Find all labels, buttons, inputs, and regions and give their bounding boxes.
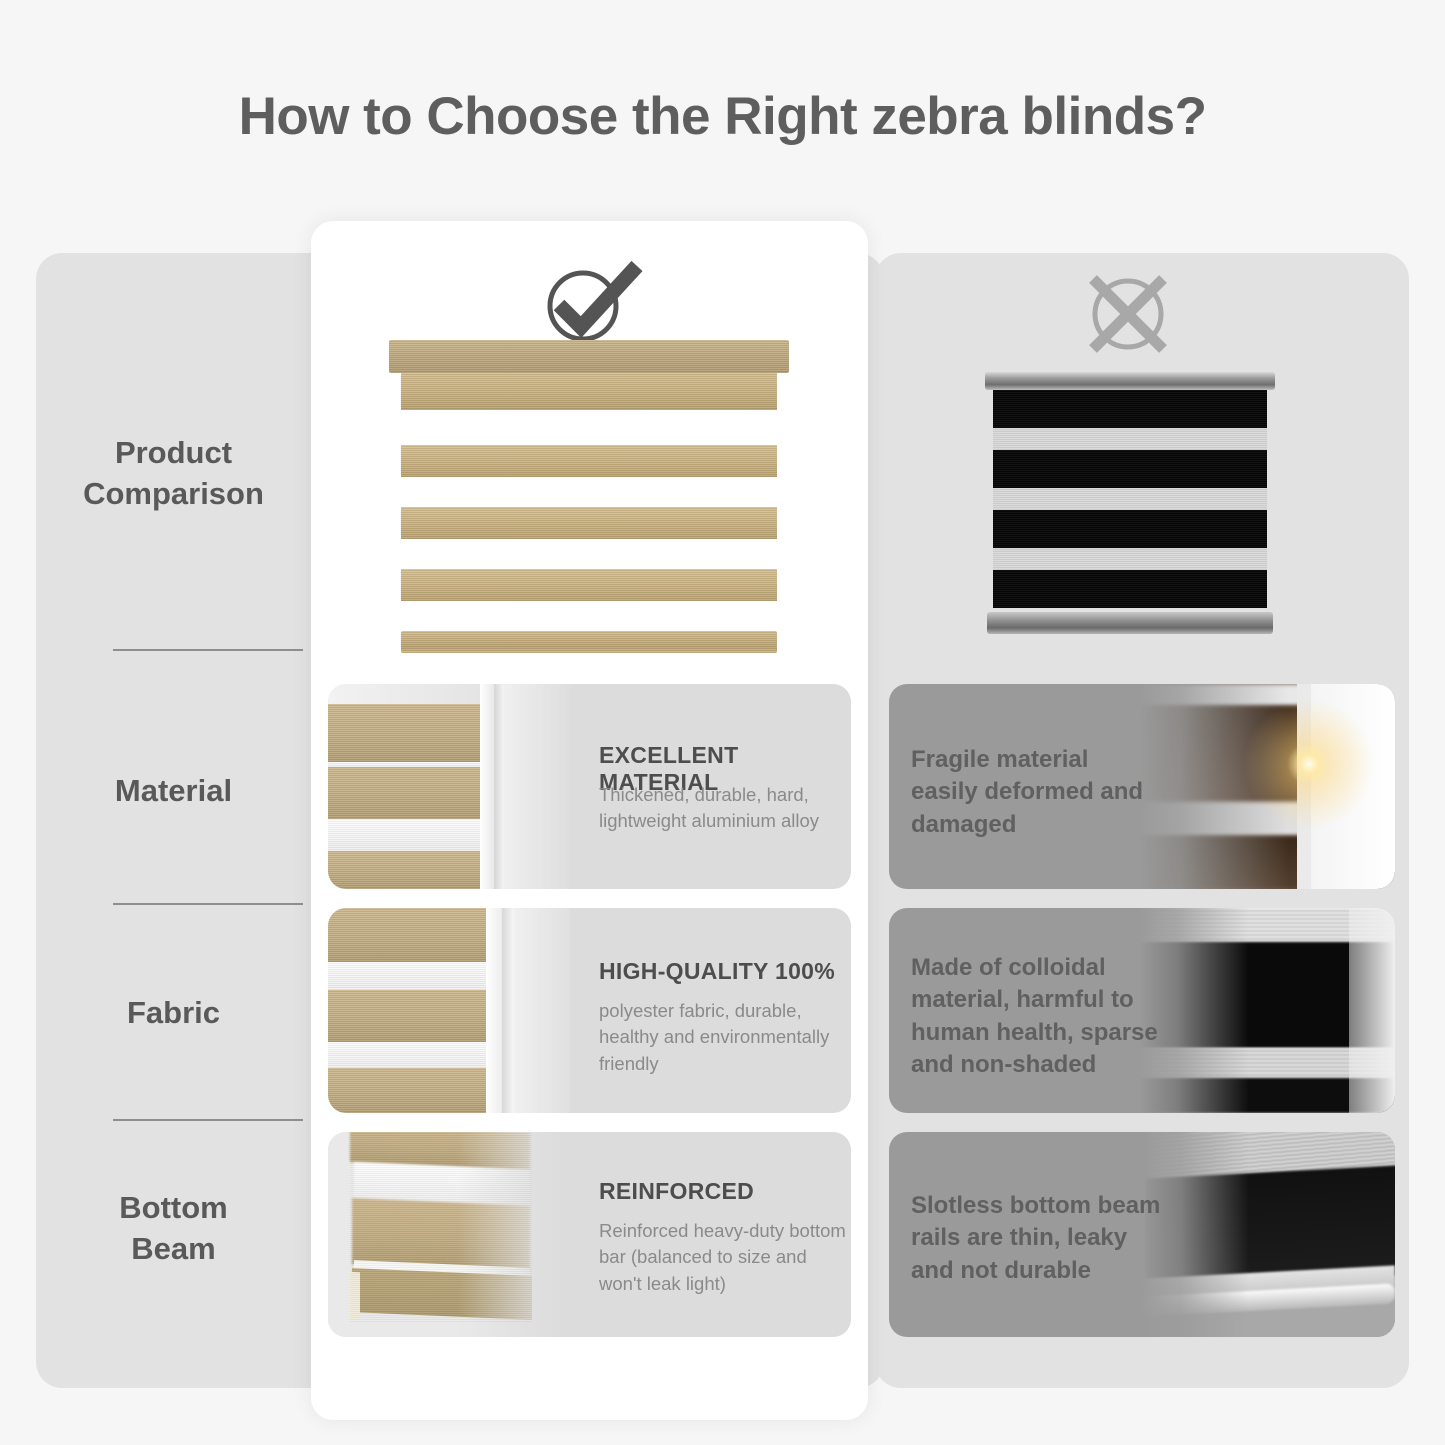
negative-photo-fabric	[1139, 908, 1395, 1113]
bad-bottom-bar	[987, 612, 1273, 634]
row-label-bottom-beam: Bottom Beam	[36, 1188, 311, 1270]
bottom-bar	[401, 631, 777, 653]
row-label-line1: Bottom	[36, 1188, 311, 1229]
negative-card-fabric: Made of colloidal material, harmful to h…	[889, 908, 1395, 1113]
feature-text-fabric: HIGH-QUALITY 100% polyester fabric, dura…	[571, 908, 851, 1113]
bad-fabric-bands	[993, 390, 1267, 608]
row-label-fabric: Fabric	[36, 993, 311, 1034]
row-label-column: Product Comparison Material Fabric Botto…	[36, 253, 311, 1388]
feature-heading: REINFORCED	[599, 1178, 754, 1205]
feature-body: Thickened, durable, hard, lightweight al…	[599, 782, 851, 835]
row-label-line2: Beam	[36, 1229, 311, 1270]
negative-photo-bottom-beam	[1139, 1132, 1395, 1337]
negative-card-bottom-beam: Slotless bottom beam rails are thin, lea…	[889, 1132, 1395, 1337]
bad-product-hero-image	[985, 372, 1275, 642]
divider-3	[113, 1119, 303, 1121]
feature-card-material: EXCELLENT MATERIAL Thickened, durable, h…	[328, 684, 851, 889]
feature-photo-bottom-beam	[328, 1132, 570, 1337]
cross-circle-icon	[1073, 265, 1183, 363]
good-product-hero-image	[389, 340, 789, 665]
row-label-line1: Material	[36, 771, 311, 812]
feature-card-bottom-beam: REINFORCED Reinforced heavy-duty bottom …	[328, 1132, 851, 1337]
check-circle-icon	[533, 250, 653, 350]
bad-headrail	[985, 372, 1275, 390]
fabric-band	[401, 507, 777, 539]
fabric-band	[401, 569, 777, 601]
row-label-line1: Product	[36, 433, 311, 474]
row-label-line2: Comparison	[36, 474, 311, 515]
divider-2	[113, 903, 303, 905]
fabric-band	[401, 445, 777, 477]
headrail-lip	[401, 373, 777, 410]
headrail	[389, 340, 789, 373]
page-title: How to Choose the Right zebra blinds?	[0, 86, 1445, 147]
negative-text: Slotless bottom beam rails are thin, lea…	[911, 1190, 1161, 1287]
divider-1	[113, 649, 303, 651]
feature-text-material: EXCELLENT MATERIAL Thickened, durable, h…	[571, 684, 851, 889]
feature-text-bottom-beam: REINFORCED Reinforced heavy-duty bottom …	[571, 1132, 851, 1337]
negative-card-material: Fragile material easily deformed and dam…	[889, 684, 1395, 889]
negative-photo-material	[1139, 684, 1395, 889]
negative-text: Fragile material easily deformed and dam…	[911, 744, 1161, 841]
feature-card-fabric: HIGH-QUALITY 100% polyester fabric, dura…	[328, 908, 851, 1113]
feature-photo-fabric	[328, 908, 570, 1113]
row-label-product-comparison: Product Comparison	[36, 433, 311, 515]
negative-text: Made of colloidal material, harmful to h…	[911, 952, 1161, 1082]
feature-photo-material	[328, 684, 570, 889]
feature-heading: HIGH-QUALITY 100%	[599, 958, 835, 985]
row-label-line1: Fabric	[36, 993, 311, 1034]
feature-body: Reinforced heavy-duty bottom bar (balanc…	[599, 1218, 851, 1297]
feature-body: polyester fabric, durable, healthy and e…	[599, 998, 851, 1077]
row-label-material: Material	[36, 771, 311, 812]
